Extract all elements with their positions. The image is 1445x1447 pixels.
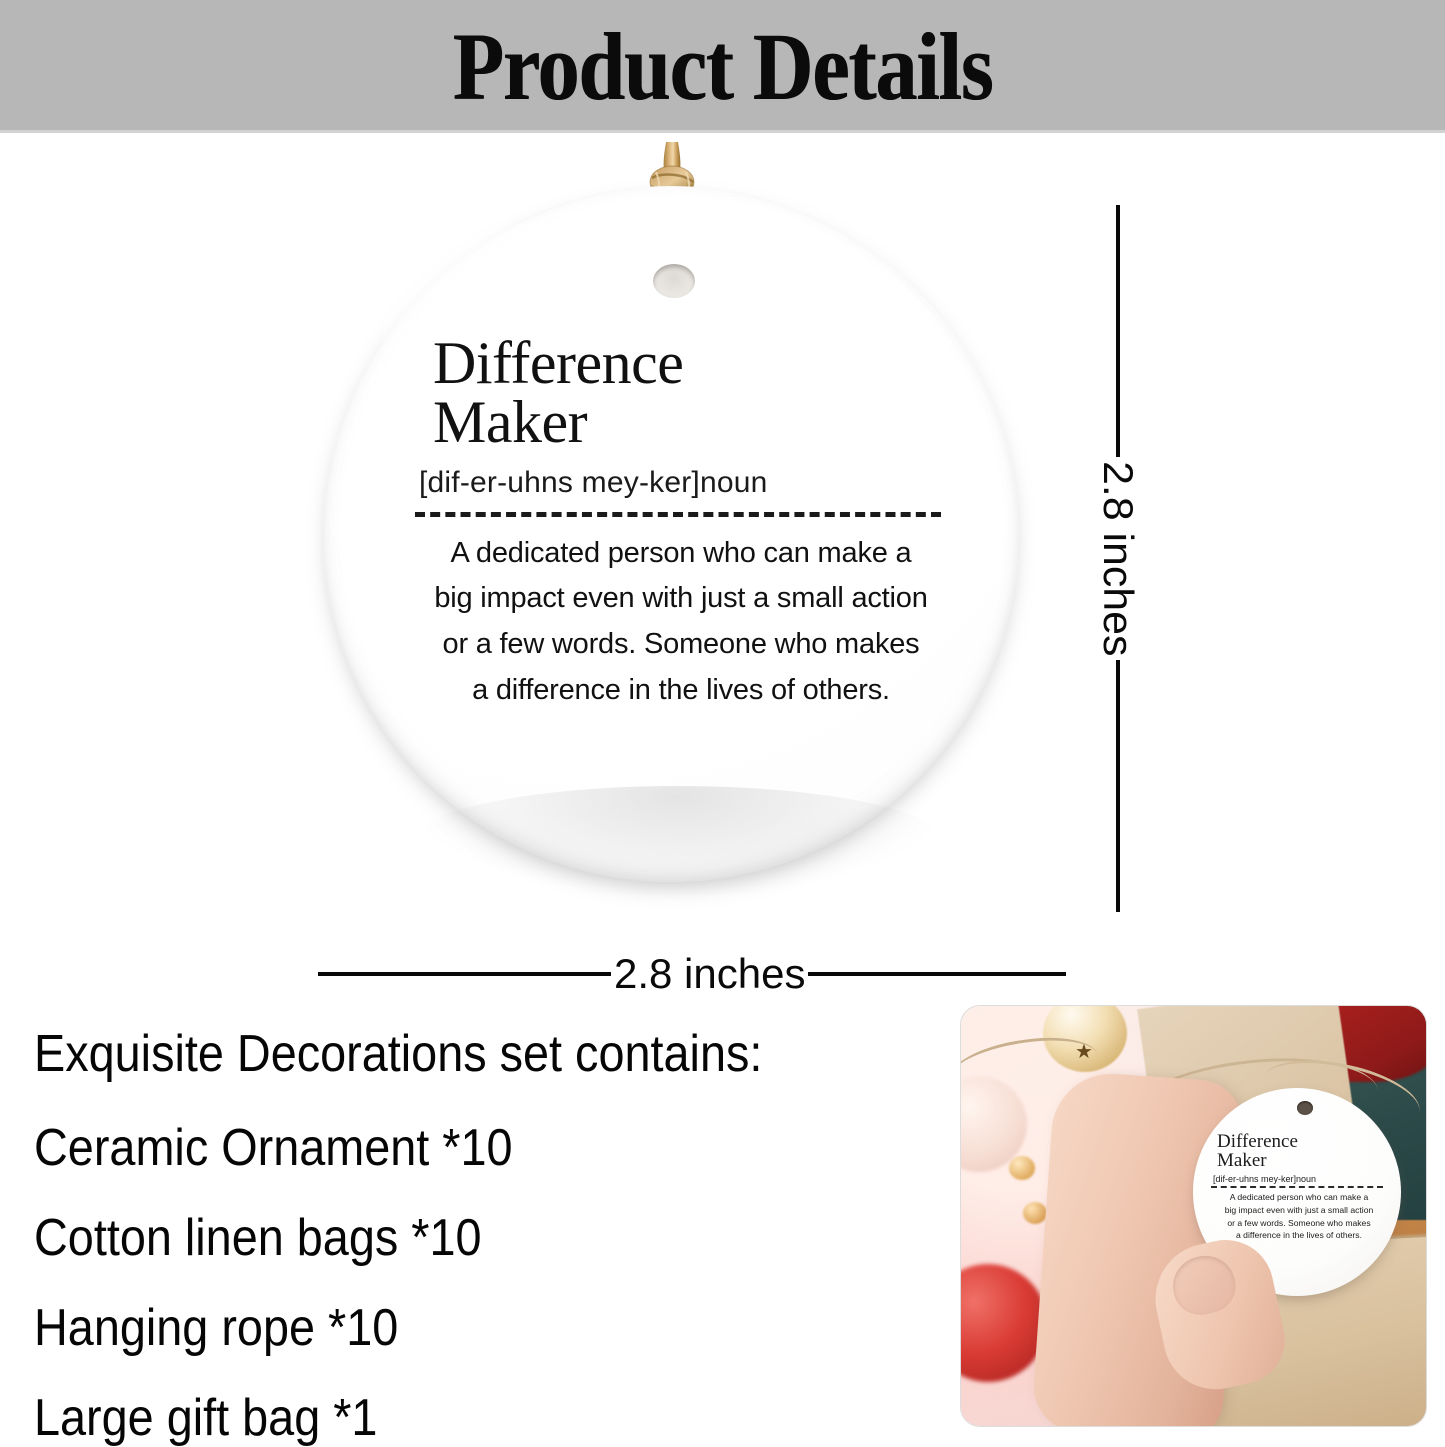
list-item: Hanging rope *10 bbox=[34, 1302, 853, 1354]
definition-line: big impact even with just a small action bbox=[1211, 1204, 1387, 1217]
gold-bead bbox=[1023, 1202, 1047, 1224]
ornament-printed-text: DifferenceMaker [dif-er-uhns mey-ker]nou… bbox=[419, 334, 939, 714]
header-bar: Product Details bbox=[0, 0, 1445, 133]
list-item: Ceramic Ornament *10 bbox=[34, 1122, 853, 1174]
width-dimension: 2.8 inches bbox=[318, 950, 1073, 998]
definition-line: A dedicated person who can make a bbox=[419, 531, 943, 577]
definition-line: big impact even with just a small action bbox=[419, 576, 943, 622]
list-item: Cotton linen bags *10 bbox=[34, 1212, 853, 1264]
dashed-divider bbox=[1211, 1186, 1383, 1188]
dimension-line-segment bbox=[318, 972, 611, 976]
page-title: Product Details bbox=[94, 0, 1351, 133]
gold-bead bbox=[1009, 1156, 1035, 1180]
contents-heading: Exquisite Decorations set contains: bbox=[34, 1028, 853, 1080]
ornament-product-image: DifferenceMaker [dif-er-uhns mey-ker]nou… bbox=[318, 180, 1024, 940]
dashed-divider bbox=[415, 512, 941, 517]
lifestyle-photo: ★ DifferenceMaker [dif-er-uhns mey-ker]n… bbox=[960, 1005, 1427, 1427]
dimension-line-segment bbox=[1116, 660, 1120, 912]
disc-shading bbox=[413, 786, 943, 896]
definition-line: a difference in the lives of others. bbox=[419, 668, 943, 714]
ornament-pronunciation: [dif-er-uhns mey-ker]noun bbox=[1213, 1174, 1387, 1184]
height-dimension-label: 2.8 inches bbox=[1094, 455, 1142, 663]
definition-line: A dedicated person who can make a bbox=[1211, 1191, 1387, 1204]
definition-line: or a few words. Someone who makes bbox=[419, 622, 943, 668]
ornament-printed-text: DifferenceMaker [dif-er-uhns mey-ker]nou… bbox=[1211, 1132, 1387, 1242]
ornament-title: DifferenceMaker bbox=[1217, 1132, 1387, 1171]
set-contents-list: Exquisite Decorations set contains: Cera… bbox=[34, 1028, 944, 1444]
ornament-title: DifferenceMaker bbox=[433, 334, 939, 452]
hanging-hole bbox=[1297, 1101, 1313, 1115]
hanging-hole bbox=[653, 264, 695, 298]
definition-line: or a few words. Someone who makes bbox=[1211, 1217, 1387, 1230]
height-dimension: 2.8 inches bbox=[1098, 205, 1138, 930]
ceramic-ornament-disc: DifferenceMaker [dif-er-uhns mey-ker]nou… bbox=[323, 186, 1019, 882]
ornament-definition: A dedicated person who can make a big im… bbox=[1211, 1191, 1387, 1243]
ornament-pronunciation: [dif-er-uhns mey-ker]noun bbox=[419, 466, 939, 500]
width-dimension-label: 2.8 inches bbox=[611, 953, 808, 995]
dimension-line-segment bbox=[808, 972, 1066, 976]
dimension-line-segment bbox=[1116, 205, 1120, 457]
ornament-definition: A dedicated person who can make a big im… bbox=[419, 531, 943, 714]
list-item: Large gift bag *1 bbox=[34, 1392, 853, 1444]
